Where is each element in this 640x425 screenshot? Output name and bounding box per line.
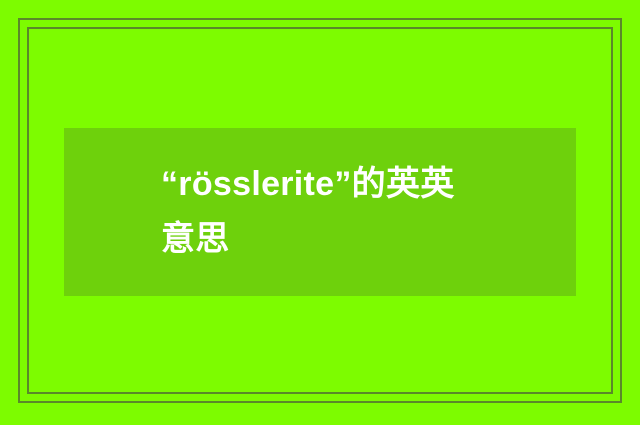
headline-panel: “rösslerite”的英英意思 — [64, 128, 576, 296]
page-title: “rösslerite”的英英意思 — [161, 157, 479, 267]
poster-canvas: “rösslerite”的英英意思 — [0, 0, 640, 425]
